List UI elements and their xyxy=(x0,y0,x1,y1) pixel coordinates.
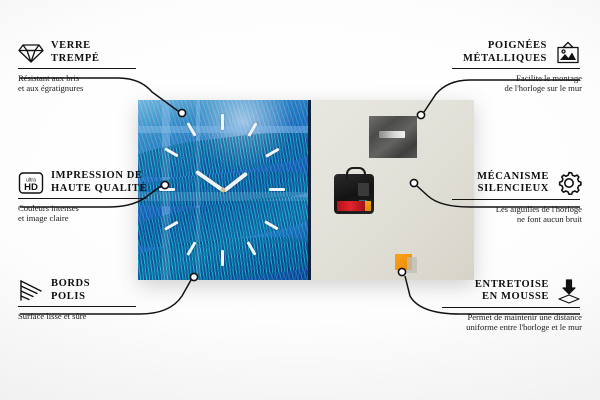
diagonal-lines-icon xyxy=(18,279,44,303)
callout-divider xyxy=(18,198,146,199)
callout-poignees-metalliques: POIGNÉES MÉTALLIQUES Facilite le montage… xyxy=(452,40,582,94)
callout-verre-trempe: VERRE TREMPÉ Résistant aux bris et aux é… xyxy=(18,40,138,94)
clock-back-panel xyxy=(311,100,474,280)
metal-hanger-plate xyxy=(369,116,417,158)
callout-impression-haute-qualite: ultra HD IMPRESSION DE HAUTE QUALITÉ Cou… xyxy=(18,170,148,224)
callout-title-line1: BORDS xyxy=(51,278,90,291)
hanger-loop xyxy=(346,167,366,179)
callout-title-line2: POLIS xyxy=(51,291,90,304)
callout-mecanisme-silencieux: MÉCANISME SILENCIEUX Les aiguilles de l'… xyxy=(452,170,582,225)
clock-hub xyxy=(221,188,226,193)
callout-divider xyxy=(452,68,580,69)
ultra-hd-badge-icon: ultra HD xyxy=(18,171,44,195)
battery xyxy=(337,201,367,211)
picture-hanger-icon xyxy=(554,41,582,65)
callout-subtitle-line2: de l'horloge sur le mur xyxy=(452,83,582,94)
diamond-icon xyxy=(18,42,44,64)
hour-tick xyxy=(269,188,285,191)
svg-text:HD: HD xyxy=(24,182,38,193)
hour-tick xyxy=(159,188,175,191)
callout-subtitle-line2: et image claire xyxy=(18,213,148,224)
callout-divider xyxy=(18,68,136,69)
callout-divider xyxy=(452,199,580,200)
callout-title-line1: MÉCANISME xyxy=(477,171,549,184)
gear-icon xyxy=(556,170,582,196)
callout-title-line1: ENTRETOISE xyxy=(475,279,549,292)
callout-title-line1: POIGNÉES xyxy=(463,40,547,53)
down-arrow-pad-icon xyxy=(556,278,582,304)
hanger-slot xyxy=(379,131,405,138)
callout-bords-polis: BORDS POLIS Surface lisse et sûre xyxy=(18,278,138,321)
callout-subtitle-line1: Facilite le montage xyxy=(452,73,582,84)
callout-subtitle-line2: ne font aucun bruit xyxy=(452,214,582,225)
callout-title-line2: HAUTE QUALITÉ xyxy=(51,183,147,196)
callout-title-line2: MÉTALLIQUES xyxy=(463,53,547,66)
callout-subtitle-line1: Les aiguilles de l'horloge xyxy=(452,204,582,215)
callout-title-line2: TREMPÉ xyxy=(51,53,100,66)
hour-tick xyxy=(221,114,224,130)
callout-entretoise-en-mousse: ENTRETOISE EN MOUSSE Permet de maintenir… xyxy=(442,278,582,333)
clock-mechanism xyxy=(334,174,374,214)
callout-divider xyxy=(18,306,136,307)
foam-spacer xyxy=(395,254,412,270)
callout-subtitle-line1: Couleurs intenses xyxy=(18,203,148,214)
product-image xyxy=(138,100,474,280)
callout-subtitle-line1: Résistant aux bris xyxy=(18,73,138,84)
hour-tick xyxy=(221,250,224,266)
callout-title-line1: IMPRESSION DE xyxy=(51,170,147,183)
callout-divider xyxy=(442,307,580,308)
callout-title-line1: VERRE xyxy=(51,40,100,53)
callout-subtitle-line2: uniforme entre l'horloge et le mur xyxy=(442,322,582,333)
clock-front-panel xyxy=(138,100,311,280)
mechanism-chip xyxy=(358,183,369,196)
callout-subtitle-line1: Surface lisse et sûre xyxy=(18,311,138,322)
callout-subtitle-line2: et aux égratignures xyxy=(18,83,138,94)
callout-title-line2: EN MOUSSE xyxy=(475,291,549,304)
callout-subtitle-line1: Permet de maintenir une distance xyxy=(442,312,582,323)
callout-title-line2: SILENCIEUX xyxy=(477,183,549,196)
infographic-canvas: VERRE TREMPÉ Résistant aux bris et aux é… xyxy=(0,0,600,400)
